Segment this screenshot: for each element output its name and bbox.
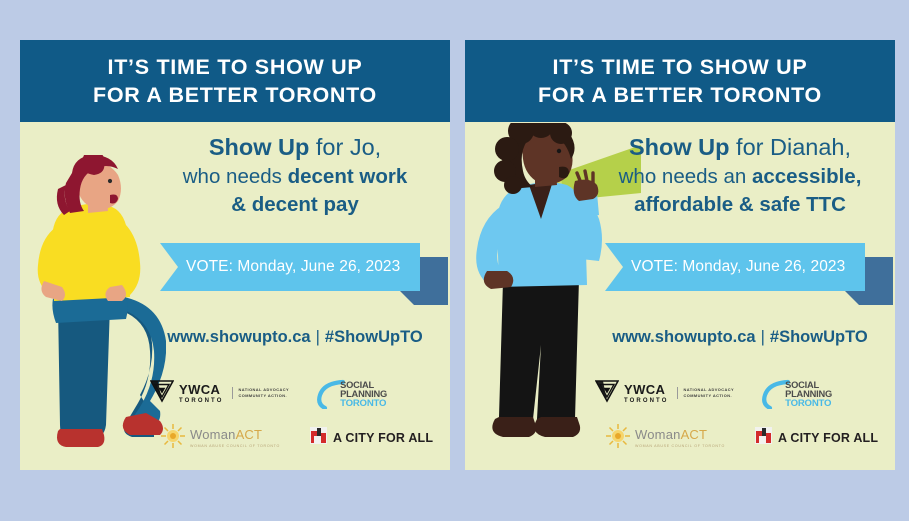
poster-message-dianah: Show Up for Dianah, who needs an accessi… bbox=[585, 132, 895, 218]
city-buildings-icon bbox=[755, 427, 772, 449]
a-city-for-all-label: A CITY FOR ALL bbox=[778, 431, 878, 445]
campaign-url-line: www.showupto.ca|#ShowUpTO bbox=[140, 328, 450, 347]
message-line-2: who needs decent work bbox=[140, 163, 450, 190]
poster-header-banner: IT’S TIME TO SHOW UP FOR A BETTER TORONT… bbox=[465, 40, 895, 122]
womanact-act: ACT bbox=[236, 427, 263, 442]
partner-logo-row-1: YWCA TORONTO NATIONAL ADVOCACY COMMUNITY… bbox=[575, 376, 895, 410]
campaign-hashtag[interactable]: #ShowUpTO bbox=[770, 328, 868, 346]
message-highlight: Show Up bbox=[209, 134, 310, 160]
poster-pair-canvas: IT’S TIME TO SHOW UP FOR A BETTER TORONT… bbox=[0, 0, 909, 521]
spt-line-3: TORONTO bbox=[785, 399, 832, 408]
ywca-toronto-logo: YWCA TORONTO NATIONAL ADVOCACY COMMUNITY… bbox=[150, 379, 289, 408]
ywca-name: YWCA bbox=[179, 383, 223, 396]
social-planning-toronto-logo: SOCIAL PLANNING TORONTO bbox=[315, 378, 393, 408]
ywca-tagline: NATIONAL ADVOCACY COMMUNITY ACTION. bbox=[677, 387, 734, 398]
city-buildings-icon bbox=[310, 427, 327, 449]
message-line-1-rest: for Dianah, bbox=[730, 134, 851, 160]
a-city-for-all-logo: A CITY FOR ALL bbox=[310, 427, 433, 449]
ribbon-body-shape: VOTE: Monday, June 26, 2023 bbox=[605, 243, 865, 291]
womanact-tagline: WOMAN ABUSE COUNCIL OF TORONTO bbox=[190, 444, 280, 448]
partner-logo-row-2: WomanACT WOMAN ABUSE COUNCIL OF TORONTO … bbox=[130, 422, 450, 454]
ribbon-body-shape: VOTE: Monday, June 26, 2023 bbox=[160, 243, 420, 291]
message-line-1: Show Up for Jo, bbox=[140, 132, 450, 163]
ywca-triangles-icon bbox=[150, 379, 174, 408]
message-line-1-rest: for Jo, bbox=[309, 134, 381, 160]
ywca-city: TORONTO bbox=[624, 398, 668, 404]
ywca-city: TORONTO bbox=[179, 398, 223, 404]
message-line-2: who needs an accessible, bbox=[585, 163, 895, 190]
message-line-3: affordable & safe TTC bbox=[585, 191, 895, 218]
message-line-1: Show Up for Dianah, bbox=[585, 132, 895, 163]
message-line-3: & decent pay bbox=[140, 191, 450, 218]
sunburst-icon bbox=[605, 423, 631, 454]
ywca-wordmark: YWCA TORONTO bbox=[624, 383, 668, 404]
spt-wordmark: SOCIAL PLANNING TORONTO bbox=[785, 381, 832, 409]
womanact-logo: WomanACT WOMAN ABUSE COUNCIL OF TORONTO bbox=[605, 423, 725, 454]
spt-wordmark: SOCIAL PLANNING TORONTO bbox=[340, 381, 387, 409]
campaign-hashtag[interactable]: #ShowUpTO bbox=[325, 328, 423, 346]
womanact-wordmark: WomanACT WOMAN ABUSE COUNCIL OF TORONTO bbox=[190, 428, 280, 448]
poster-card-jo[interactable]: IT’S TIME TO SHOW UP FOR A BETTER TORONT… bbox=[20, 40, 450, 470]
message-line-2-bold: decent work bbox=[288, 165, 408, 188]
womanact-logo: WomanACT WOMAN ABUSE COUNCIL OF TORONTO bbox=[160, 423, 280, 454]
ywca-toronto-logo: YWCA TORONTO NATIONAL ADVOCACY COMMUNITY… bbox=[595, 379, 734, 408]
social-planning-toronto-logo: SOCIAL PLANNING TORONTO bbox=[760, 378, 838, 408]
message-highlight: Show Up bbox=[629, 134, 730, 160]
url-separator: | bbox=[311, 328, 325, 346]
poster-header-banner: IT’S TIME TO SHOW UP FOR A BETTER TORONT… bbox=[20, 40, 450, 122]
womanact-act: ACT bbox=[681, 427, 708, 442]
womanact-name: WomanACT bbox=[190, 428, 280, 441]
campaign-url-line: www.showupto.ca|#ShowUpTO bbox=[585, 328, 895, 347]
partner-logo-row-2: WomanACT WOMAN ABUSE COUNCIL OF TORONTO … bbox=[575, 422, 895, 454]
campaign-url[interactable]: www.showupto.ca bbox=[167, 328, 310, 346]
campaign-url[interactable]: www.showupto.ca bbox=[612, 328, 755, 346]
ywca-tagline: NATIONAL ADVOCACY COMMUNITY ACTION. bbox=[232, 387, 289, 398]
womanact-name: WomanACT bbox=[635, 428, 725, 441]
poster-header-text: IT’S TIME TO SHOW UP FOR A BETTER TORONT… bbox=[93, 53, 377, 110]
vote-ribbon: VOTE: Monday, June 26, 2023 bbox=[605, 243, 895, 305]
a-city-for-all-label: A CITY FOR ALL bbox=[333, 431, 433, 445]
vote-date-text: VOTE: Monday, June 26, 2023 bbox=[160, 258, 400, 276]
poster-card-dianah[interactable]: IT’S TIME TO SHOW UP FOR A BETTER TORONT… bbox=[465, 40, 895, 470]
message-line-2-bold: accessible, bbox=[752, 165, 861, 188]
ywca-wordmark: YWCA TORONTO bbox=[179, 383, 223, 404]
message-line-2-plain: who needs bbox=[183, 165, 288, 188]
womanact-wordmark: WomanACT WOMAN ABUSE COUNCIL OF TORONTO bbox=[635, 428, 725, 448]
ywca-name: YWCA bbox=[624, 383, 668, 396]
vote-ribbon: VOTE: Monday, June 26, 2023 bbox=[160, 243, 450, 305]
vote-date-text: VOTE: Monday, June 26, 2023 bbox=[605, 258, 845, 276]
url-separator: | bbox=[756, 328, 770, 346]
ywca-triangles-icon bbox=[595, 379, 619, 408]
poster-header-text: IT’S TIME TO SHOW UP FOR A BETTER TORONT… bbox=[538, 53, 822, 110]
a-city-for-all-logo: A CITY FOR ALL bbox=[755, 427, 878, 449]
poster-message-jo: Show Up for Jo, who needs decent work & … bbox=[140, 132, 450, 218]
partner-logo-row-1: YWCA TORONTO NATIONAL ADVOCACY COMMUNITY… bbox=[130, 376, 450, 410]
sunburst-icon bbox=[160, 423, 186, 454]
womanact-tagline: WOMAN ABUSE COUNCIL OF TORONTO bbox=[635, 444, 725, 448]
spt-line-3: TORONTO bbox=[340, 399, 387, 408]
message-line-2-plain: who needs an bbox=[619, 165, 752, 188]
